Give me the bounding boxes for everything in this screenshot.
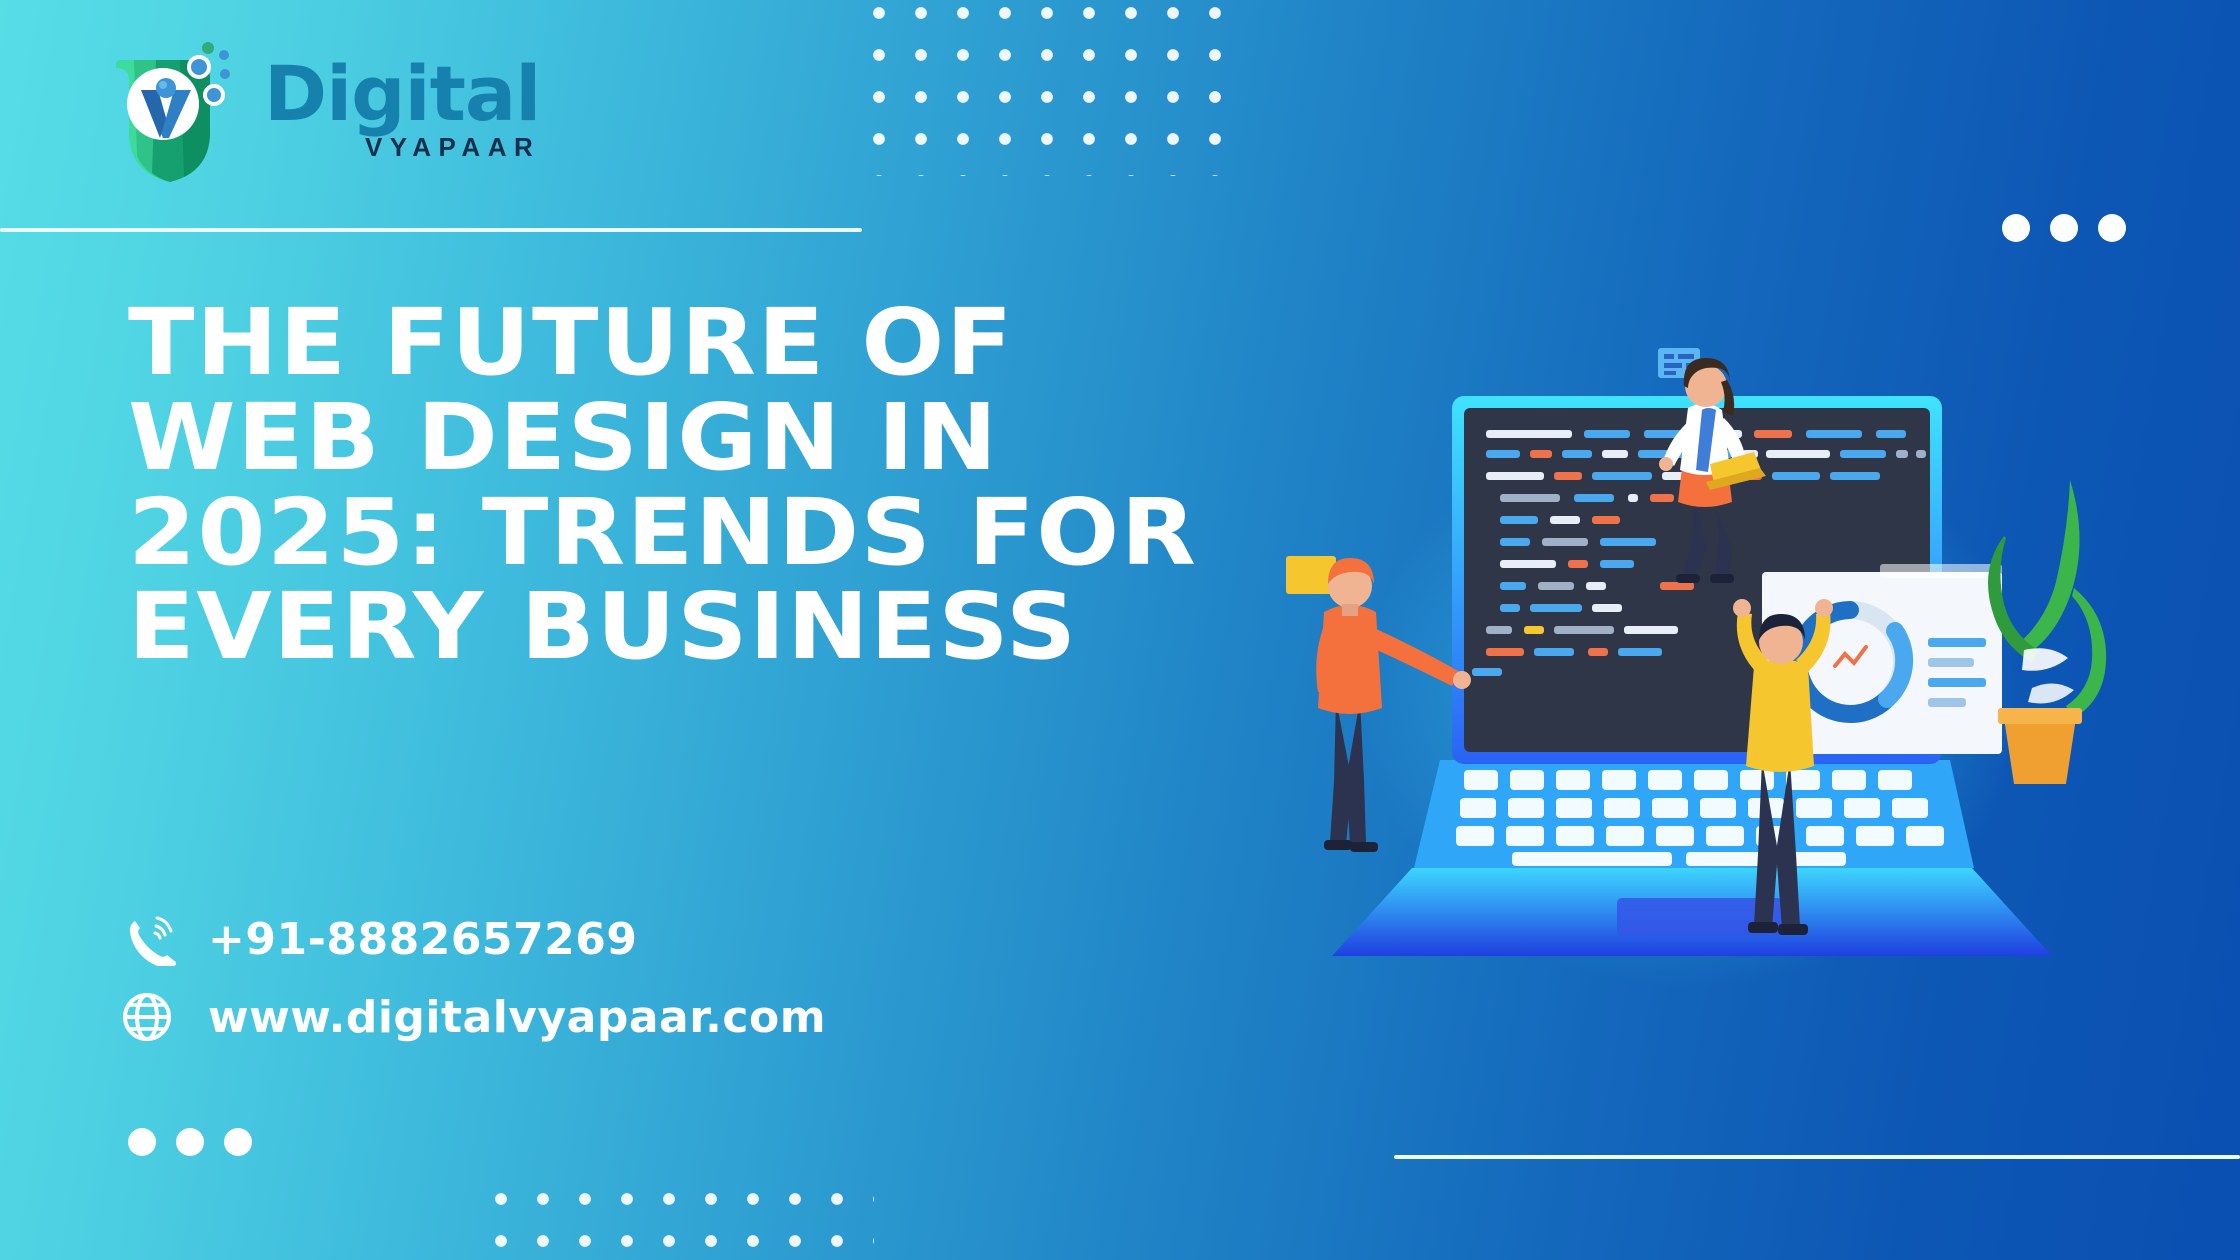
contact-phone-row[interactable]: +91-8882657269	[122, 900, 826, 978]
dot	[2050, 214, 2078, 242]
brand-wordmark: Digital VYAPAAR	[264, 58, 540, 163]
contact-block: +91-8882657269 www.digitalvyapaar.com	[122, 900, 826, 1056]
dot	[128, 1128, 156, 1156]
divider-line-top-left	[0, 228, 862, 232]
website-url: www.digitalvyapaar.com	[208, 992, 826, 1043]
contact-website-row[interactable]: www.digitalvyapaar.com	[122, 978, 826, 1056]
brand-name: Digital	[264, 58, 540, 130]
three-dots-bottom-left	[128, 1128, 252, 1156]
dot	[176, 1128, 204, 1156]
three-dots-top-right	[2002, 214, 2126, 242]
dot-grid-top-right	[852, 0, 1232, 176]
phone-number: +91-8882657269	[208, 914, 638, 965]
digital-vyapaar-logo-icon	[96, 38, 246, 188]
web-development-team-illustration	[1262, 268, 2162, 988]
brand-logo[interactable]: Digital VYAPAAR	[96, 38, 656, 188]
dot	[224, 1128, 252, 1156]
dot	[2002, 214, 2030, 242]
dot-grid-bottom-left	[474, 1172, 874, 1260]
phone-icon	[122, 912, 208, 966]
page-title: THE FUTURE OF WEB DESIGN IN 2025: TRENDS…	[128, 296, 1283, 675]
globe-icon	[122, 992, 208, 1042]
divider-line-bottom-right	[1394, 1155, 2240, 1159]
dot	[2098, 214, 2126, 242]
promo-banner: Digital VYAPAAR THE FUTURE OF WEB DESIGN…	[0, 0, 2240, 1260]
